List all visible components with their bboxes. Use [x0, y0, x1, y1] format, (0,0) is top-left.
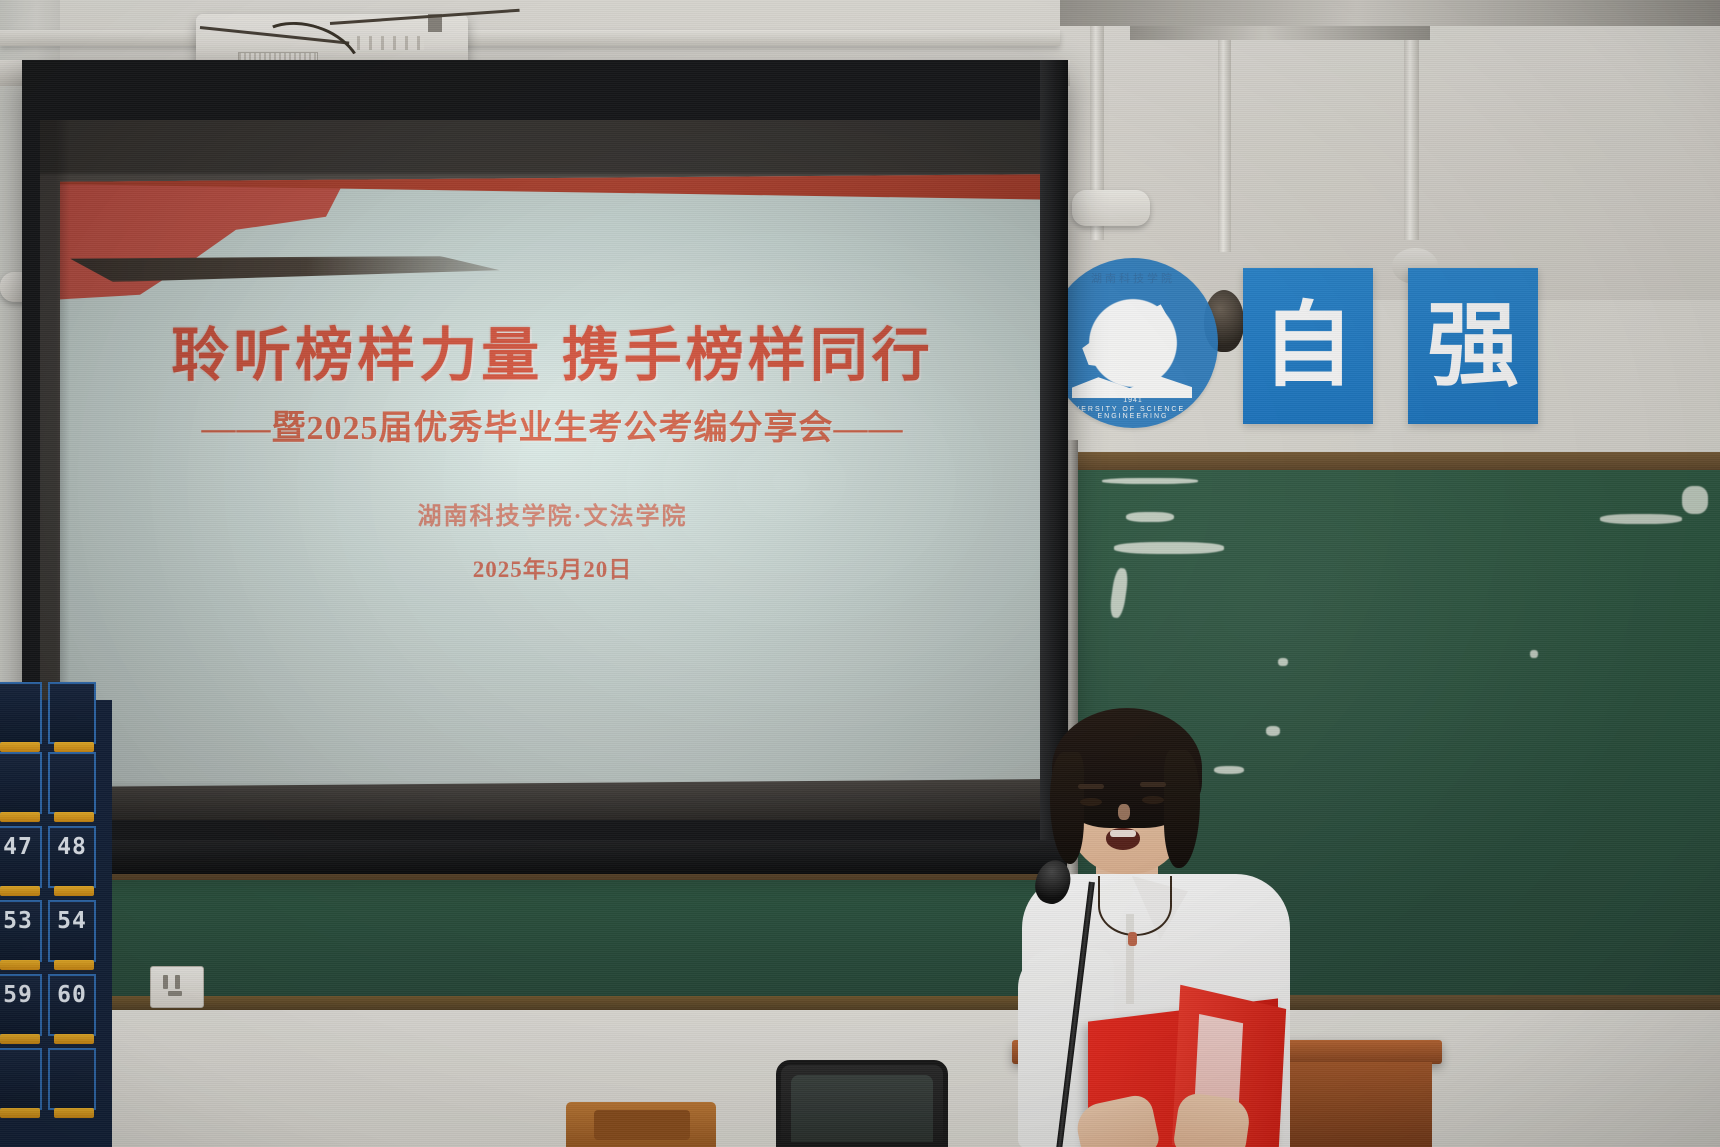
emblem-year: 1941	[1048, 397, 1218, 404]
eye-left	[1080, 798, 1102, 806]
necklace-pendant	[1128, 932, 1137, 946]
presentation-slide: 聆听榜样力量 携手榜样同行 ——暨2025届优秀毕业生考公考编分享会—— 湖南科…	[60, 174, 1040, 787]
wall-lamp	[1072, 190, 1150, 226]
cubby-number: 59	[3, 982, 33, 1008]
office-chair-back	[776, 1060, 948, 1147]
mouth	[1106, 828, 1140, 850]
hair-right	[1164, 750, 1200, 868]
projection-screen-surface: 聆听榜样力量 携手榜样同行 ——暨2025届优秀毕业生考公考编分享会—— 湖南科…	[40, 120, 1040, 820]
wall-sign-zi: 自	[1243, 268, 1373, 424]
chalkboard-trim	[1070, 452, 1720, 472]
emblem-english-name: UNIVERSITY OF SCIENCE AND ENGINEERING	[1048, 406, 1218, 420]
cubby[interactable]	[0, 682, 42, 744]
wall-sign-qiang: 强	[1408, 268, 1538, 424]
ceiling-beam-2	[1130, 26, 1430, 40]
chalk-mark	[1278, 658, 1288, 666]
slide-title: 聆听榜样力量 携手榜样同行	[60, 308, 1040, 392]
slide-red-flag-graphic	[60, 174, 350, 300]
emblem-chinese-name: 湖南科技学院	[1048, 270, 1218, 286]
projection-screen-bottom-bar	[22, 840, 1067, 874]
classroom-presentation-photo: 湖南科技学院 1941 UNIVERSITY OF SCIENCE AND EN…	[0, 0, 1720, 1147]
chalk-mark	[1530, 650, 1538, 658]
eyebrow-left	[1078, 784, 1104, 789]
power-outlet[interactable]	[150, 966, 204, 1008]
slide-date: 2025年5月20日	[60, 550, 1040, 584]
wooden-chair	[566, 1102, 716, 1147]
cubby[interactable]	[48, 752, 96, 814]
wall-sign-zi-char: 自	[1262, 300, 1354, 392]
chalk-mark	[1102, 478, 1198, 484]
cubby-number: 60	[57, 982, 87, 1008]
storage-cubbies: 47 48 53 54 59 60	[0, 700, 112, 1147]
student-speaker	[1000, 700, 1330, 1147]
chalk-mark	[1600, 514, 1682, 524]
slide-subtitle: ——暨2025届优秀毕业生考公考编分享会——	[60, 400, 1040, 449]
slide-organization: 湖南科技学院·文法学院	[60, 496, 1040, 531]
cubby[interactable]: 54	[48, 900, 96, 962]
cubby-number: 54	[57, 908, 87, 934]
chalk-mark	[1682, 486, 1708, 514]
cubby[interactable]	[0, 752, 42, 814]
ceiling-rail	[0, 30, 1060, 46]
hair-left	[1050, 752, 1084, 864]
slide-flag-shadow	[70, 256, 500, 282]
chalk-mark	[1126, 512, 1174, 522]
chalk-mark	[1109, 567, 1130, 618]
cubby[interactable]	[48, 1048, 96, 1110]
nose	[1118, 804, 1130, 820]
ceiling-beam	[1060, 0, 1720, 26]
wall-sign-qiang-char: 强	[1427, 300, 1519, 392]
cubby[interactable]	[48, 682, 96, 744]
necklace	[1098, 876, 1172, 936]
cubby[interactable]: 47	[0, 826, 42, 888]
cubby[interactable]: 53	[0, 900, 42, 962]
chalkboard-left	[60, 880, 1070, 1000]
eye-right	[1142, 796, 1164, 804]
cubby-number: 53	[3, 908, 33, 934]
cubby[interactable]: 59	[0, 974, 42, 1036]
cubby-number: 47	[3, 834, 33, 860]
cubby[interactable]: 60	[48, 974, 96, 1036]
university-emblem: 湖南科技学院 1941 UNIVERSITY OF SCIENCE AND EN…	[1048, 258, 1218, 428]
chalk-mark	[1114, 542, 1224, 554]
eyebrow-right	[1140, 782, 1166, 787]
cubby[interactable]	[0, 1048, 42, 1110]
cubby-number: 48	[57, 834, 87, 860]
cubby[interactable]: 48	[48, 826, 96, 888]
